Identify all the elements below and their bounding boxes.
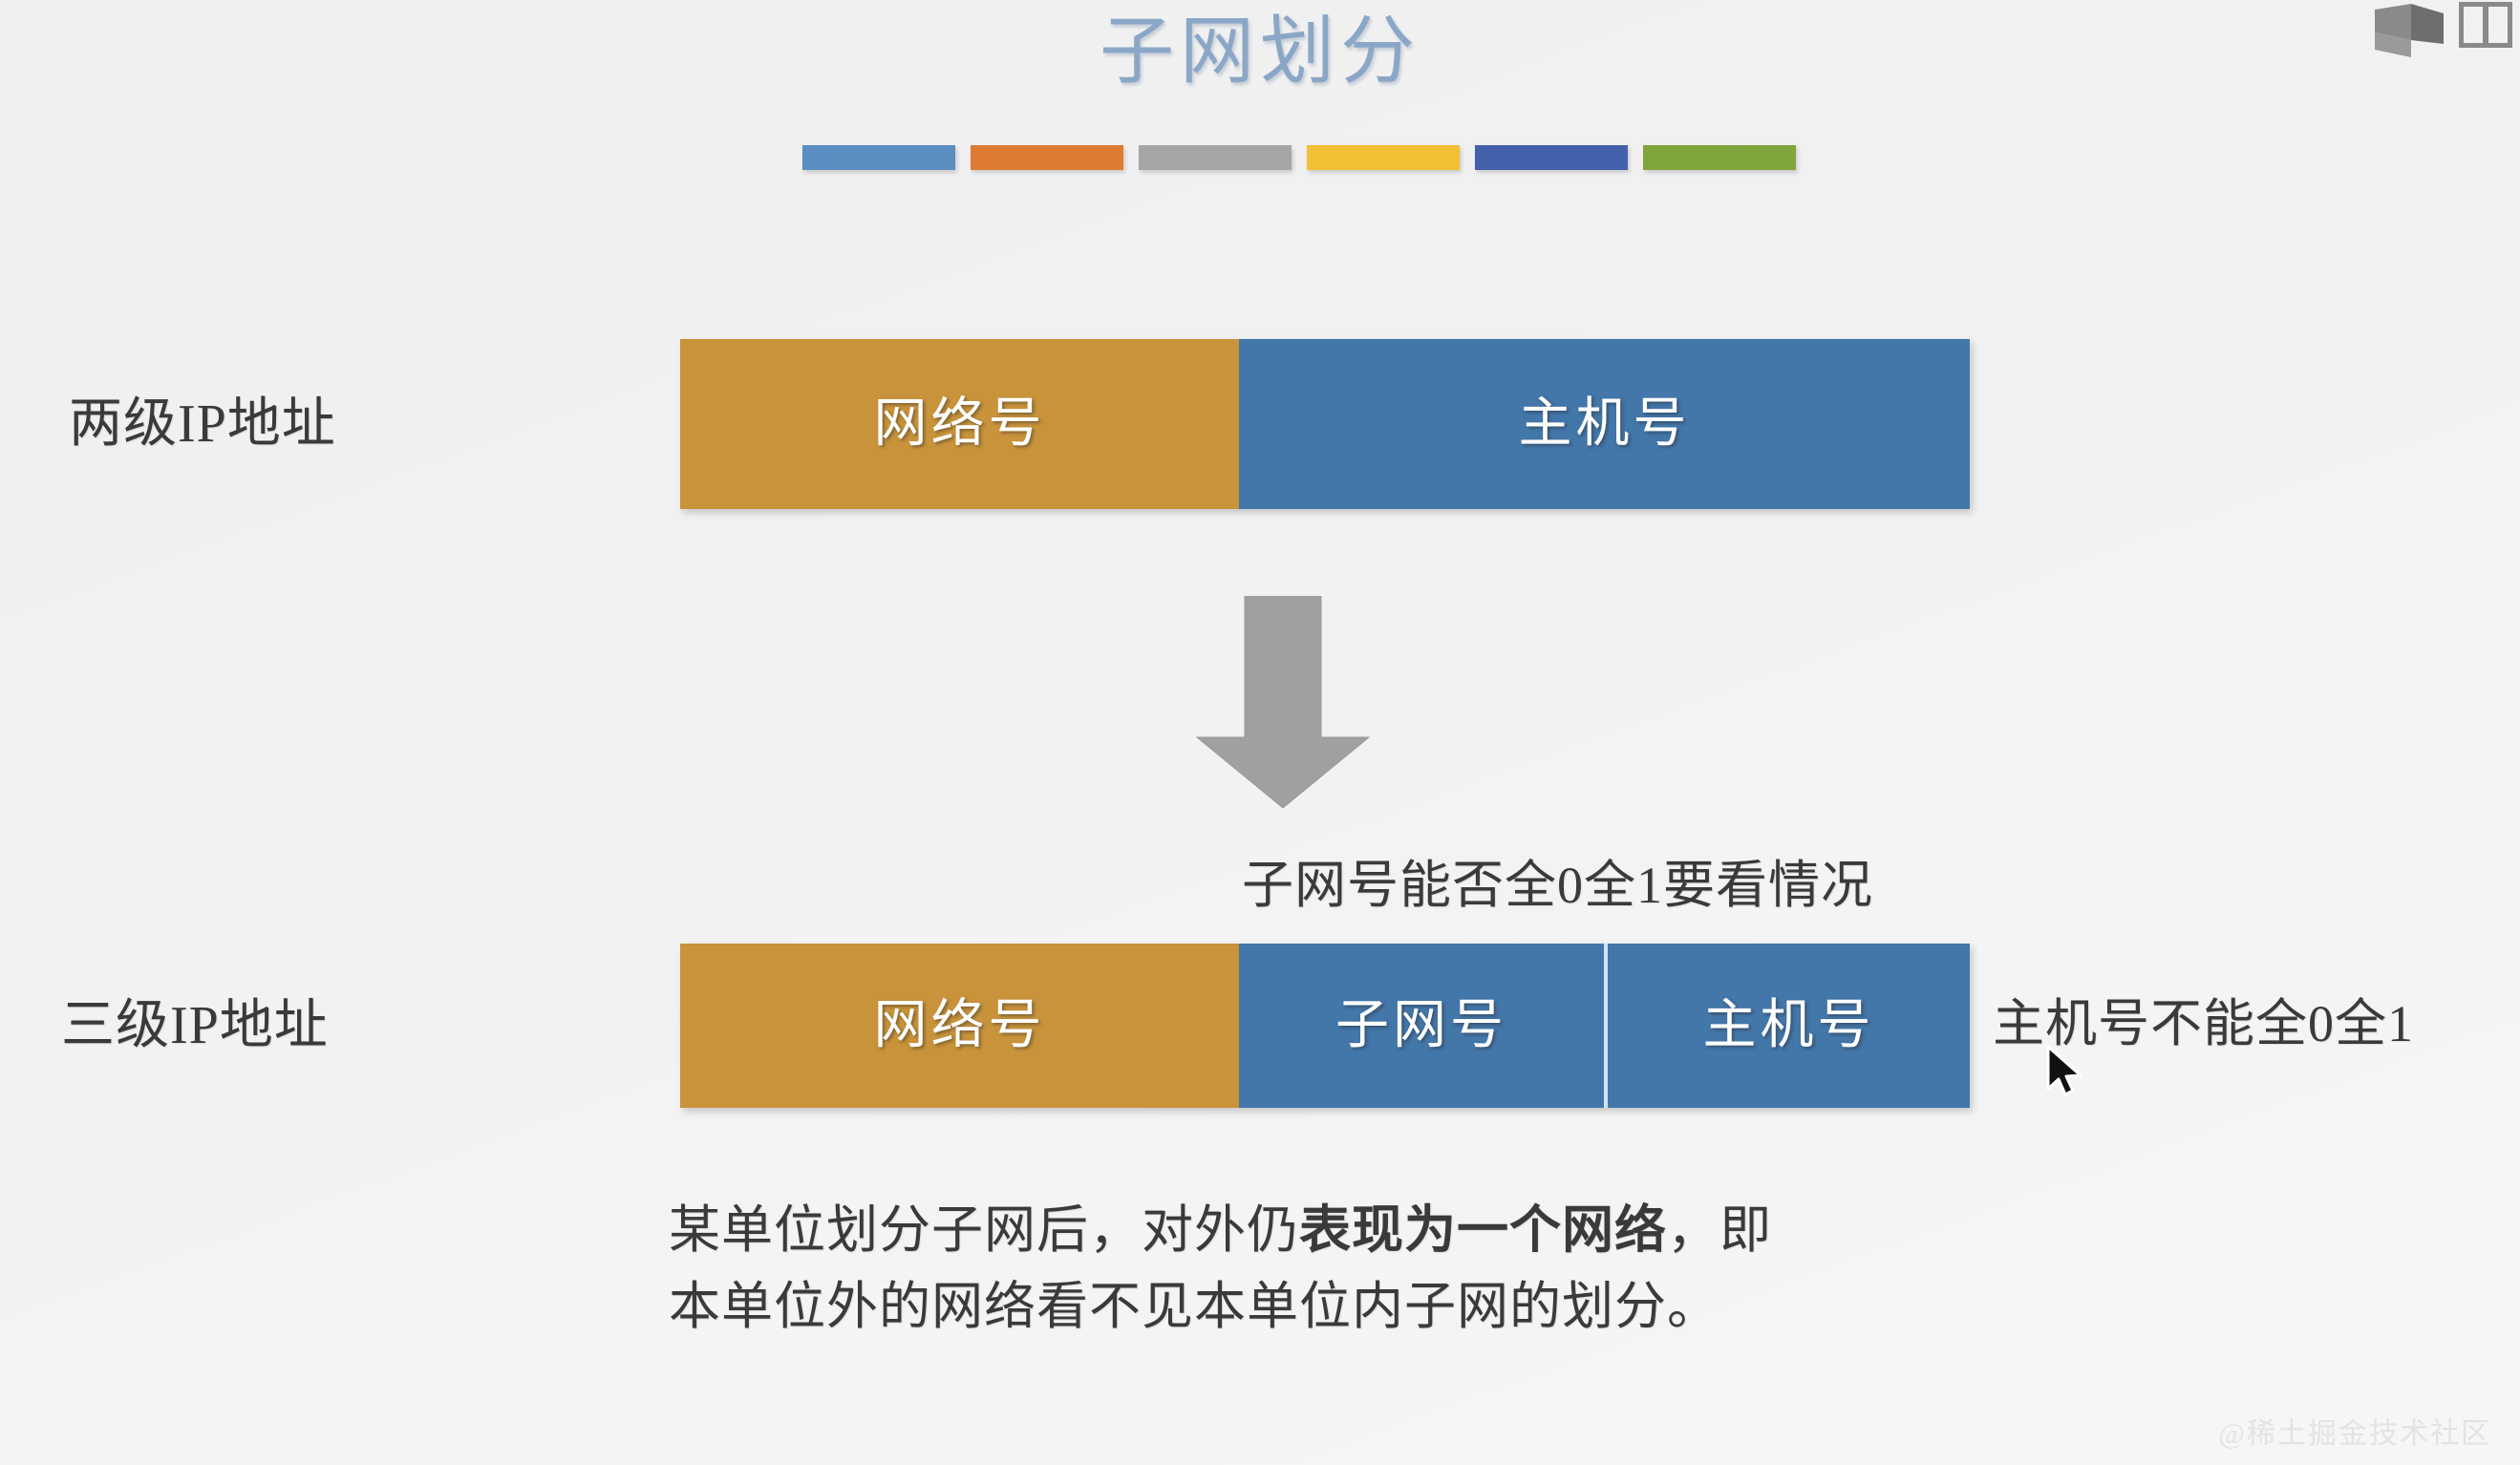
segment-host-id: 主机号 (1604, 944, 1970, 1108)
bottom-note-emphasis: 表现为一个网络 (1299, 1201, 1667, 1259)
bottom-note-line-2: 本单位外的网络看不见本单位内子网的划分。 (669, 1278, 1719, 1335)
window-panes-icon[interactable] (2459, 2, 2512, 53)
cube-3d-icon[interactable] (2373, 2, 2447, 64)
three-level-ip-bar: 网络号 子网号 主机号 (680, 944, 1970, 1108)
segment-network-id: 网络号 (680, 339, 1239, 509)
slide-canvas: 子网划分 两级IP地址 网络号 主机号 子网号能否全0全1要看情况 三级IP地址… (0, 0, 2520, 1465)
two-level-ip-bar: 网络号 主机号 (680, 339, 1970, 509)
decor-bar-green (1643, 145, 1796, 170)
down-arrow-icon (1192, 596, 1374, 808)
decor-bar-blue (802, 145, 955, 170)
overlay-icons (2373, 2, 2512, 64)
segment-subnet-id: 子网号 (1239, 944, 1604, 1108)
host-id-note: 主机号不能全0全1 (1993, 993, 2414, 1054)
decor-bar-orange (971, 145, 1123, 170)
decor-bar-gray (1139, 145, 1292, 170)
bottom-description: 某单位划分子网后，对外仍表现为一个网络，即 本单位外的网络看不见本单位内子网的划… (669, 1192, 2025, 1345)
watermark: @稀土掘金技术社区 (2218, 1417, 2491, 1452)
decor-bar-yellow (1307, 145, 1460, 170)
segment-host-id: 主机号 (1239, 339, 1970, 509)
two-level-ip-label: 两级IP地址 (69, 393, 336, 455)
decor-bar-darkblue (1475, 145, 1628, 170)
page-title: 子网划分 (0, 6, 2520, 97)
decorative-color-bars (802, 145, 1796, 170)
bottom-note-part-2: ，即 (1667, 1201, 1772, 1259)
bottom-note-part-1: 某单位划分子网后，对外仍 (669, 1201, 1299, 1259)
subnet-id-note: 子网号能否全0全1要看情况 (1242, 855, 1873, 916)
three-level-ip-label: 三级IP地址 (61, 995, 329, 1056)
segment-network-id: 网络号 (680, 944, 1239, 1108)
